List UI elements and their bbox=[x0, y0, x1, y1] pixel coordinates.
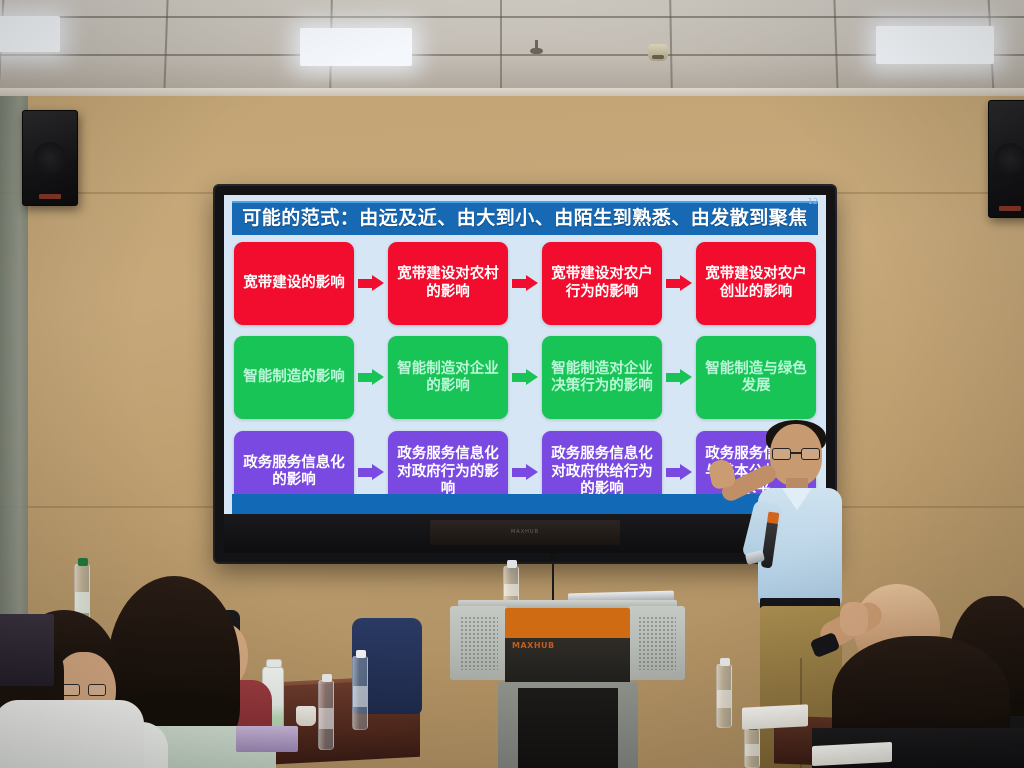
arrow-cell bbox=[354, 369, 388, 386]
smoke-detector-icon bbox=[648, 44, 668, 61]
flow-node[interactable]: 智能制造对企业决策行为的影响 bbox=[542, 336, 662, 419]
ceiling-light bbox=[300, 28, 412, 66]
audience-front-left-torso bbox=[0, 700, 144, 768]
wall-speaker-left bbox=[22, 110, 78, 206]
arrow-cell bbox=[508, 369, 542, 386]
arrow-cell bbox=[662, 464, 696, 481]
presentation-display[interactable]: 可能的范式：由远及近、由大到小、由陌生到熟悉、由发散到聚焦 宽带建设的影响 宽带… bbox=[215, 186, 835, 562]
arrow-right-icon bbox=[512, 464, 538, 481]
paper-cup bbox=[296, 706, 316, 726]
ceiling bbox=[0, 0, 1024, 104]
display-soundbar: MAXHUB bbox=[430, 520, 620, 545]
water-bottle bbox=[352, 656, 368, 730]
arrow-cell bbox=[508, 275, 542, 292]
ceiling-light bbox=[0, 16, 60, 52]
lectern-speaker-right bbox=[628, 606, 685, 680]
arrow-cell bbox=[354, 275, 388, 292]
water-bottle bbox=[318, 680, 334, 750]
arrow-cell bbox=[662, 275, 696, 292]
slide-page-number: 12 bbox=[808, 197, 818, 206]
water-bottle bbox=[744, 728, 760, 768]
display-brand-label: MAXHUB bbox=[511, 529, 539, 535]
papers-on-table bbox=[812, 742, 892, 766]
flow-node[interactable]: 智能制造对企业的影响 bbox=[388, 336, 508, 419]
wall-speaker-right bbox=[988, 100, 1024, 218]
arrow-cell bbox=[508, 464, 542, 481]
water-bottle bbox=[716, 664, 732, 728]
flow-node[interactable]: 宽带建设对农户行为的影响 bbox=[542, 242, 662, 325]
flow-node[interactable]: 智能制造与绿色发展 bbox=[696, 336, 816, 419]
arrow-right-icon bbox=[512, 275, 538, 292]
arrow-right-icon bbox=[666, 369, 692, 386]
lectern: MAXHUB bbox=[450, 600, 685, 768]
arrow-cell bbox=[354, 464, 388, 481]
arrow-right-icon bbox=[666, 275, 692, 292]
arrow-right-icon bbox=[358, 464, 384, 481]
tablet-on-table bbox=[236, 726, 298, 752]
arrow-right-icon bbox=[358, 369, 384, 386]
glasses-icon bbox=[772, 448, 820, 460]
arrow-right-icon bbox=[358, 275, 384, 292]
slide-title: 可能的范式：由远及近、由大到小、由陌生到熟悉、由发散到聚焦 bbox=[232, 201, 818, 235]
papers-on-table bbox=[742, 704, 808, 729]
lectern-front-panel bbox=[505, 608, 630, 638]
tablet-on-table bbox=[0, 614, 54, 686]
arrow-right-icon bbox=[512, 369, 538, 386]
lectern-pedestal-front bbox=[518, 688, 618, 768]
display-chin: MAXHUB bbox=[224, 514, 826, 553]
flow-node[interactable]: 宽带建设对农户创业的影响 bbox=[696, 242, 816, 325]
flow-row-broadband: 宽带建设的影响 宽带建设对农村的影响 宽带建设对农户行为的影响 宽带建设对农户创… bbox=[234, 242, 816, 325]
arrow-cell bbox=[662, 369, 696, 386]
flow-node[interactable]: 智能制造的影响 bbox=[234, 336, 354, 419]
sprinkler-head-icon bbox=[530, 40, 543, 56]
flow-row-smart-manufacturing: 智能制造的影响 智能制造对企业的影响 智能制造对企业决策行为的影响 智能制造与绿… bbox=[234, 336, 816, 419]
lectern-brand-label: MAXHUB bbox=[512, 641, 555, 650]
slide: 可能的范式：由远及近、由大到小、由陌生到熟悉、由发散到聚焦 宽带建设的影响 宽带… bbox=[224, 195, 826, 514]
flow-node[interactable]: 宽带建设对农村的影响 bbox=[388, 242, 508, 325]
flow-node[interactable]: 宽带建设的影响 bbox=[234, 242, 354, 325]
arrow-right-icon bbox=[666, 464, 692, 481]
ceiling-light bbox=[876, 26, 994, 64]
conference-room-scene: 可能的范式：由远及近、由大到小、由陌生到熟悉、由发散到聚焦 宽带建设的影响 宽带… bbox=[0, 0, 1024, 768]
lectern-speaker-left bbox=[450, 606, 507, 680]
glasses-icon bbox=[62, 684, 106, 696]
